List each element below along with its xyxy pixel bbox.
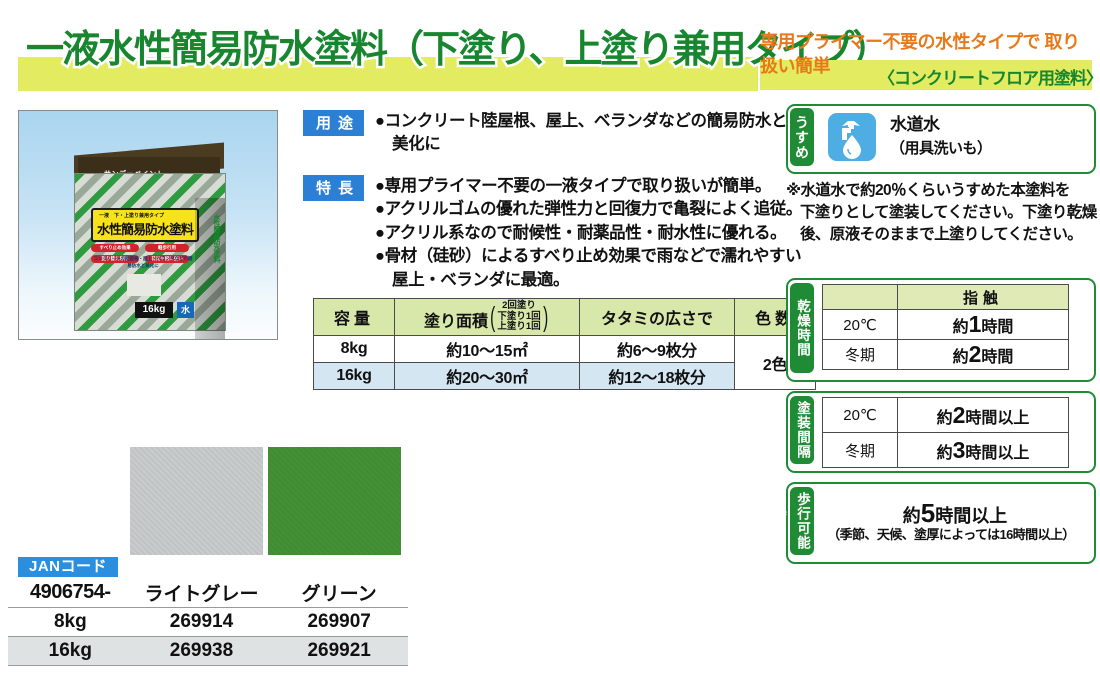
drying-header-touch: 指触 (898, 285, 1069, 310)
recoat-value-1: 約3時間以上 (898, 433, 1069, 468)
recoat-row-20c: 20℃ 約2時間以上 (823, 398, 1069, 433)
spec-volume-1: 16kg (314, 363, 395, 390)
spec-tatami-0: 約6〜9枚分 (580, 336, 735, 363)
spec-th-area: 塗り面積(2回塗り下塗り1回上塗り1回) (395, 299, 580, 336)
thinner-note-2: 下塗りとして塗装してください。下塗り乾燥 (786, 202, 1096, 224)
can-body: 一液 下・上塗り兼用タイプ 水性簡易防水塗料 すべり止め効果 軽歩行用 塗り替え… (74, 173, 226, 331)
usage-badge: 用途 (303, 110, 364, 136)
jan-size-1: 16kg (8, 637, 133, 666)
jan-table: 4906754- ライトグレー グリーン 8kg 269914 269907 1… (8, 578, 408, 666)
recoat-row-winter: 冬期 約3時間以上 (823, 433, 1069, 468)
area-note-1: 2回塗り (502, 300, 536, 311)
drying-value-0: 約1時間 (898, 310, 1069, 340)
jan-size-0: 8kg (8, 608, 133, 637)
jan-code-0-1: 269907 (270, 608, 408, 637)
drying-suffix-0: 時間 (981, 319, 1013, 336)
spec-header-row: 容量 塗り面積(2回塗り下塗り1回上塗り1回) タタミの広さで 色数 (314, 299, 816, 336)
jan-prefix: 4906754- (8, 578, 133, 608)
thinner-name-block: 水道水 （用具洗いも） (890, 113, 992, 159)
can-side-text: 水性簡易防水塗料 (199, 214, 221, 262)
recoat-num-0: 2 (953, 402, 966, 428)
drying-num-0: 1 (969, 311, 982, 337)
catalog-page: 一液水性簡易防水塗料（下塗り、上塗り兼用タイプ） 専用プライマー不要の水性タイプ… (0, 0, 1100, 696)
can-pill-1: すべり止め効果 (91, 244, 139, 252)
features-line-5: 屋上・ベランダに最適。 (375, 269, 802, 292)
walkable-prefix: 約 (903, 506, 921, 526)
recoat-prefix-0: 約 (937, 410, 953, 427)
recoat-suffix-0: 時間以上 (965, 410, 1029, 427)
paint-can-image: サンデーペイント 一液 下・上塗り兼用タイプ 水性簡易防水塗料 すべり止め効果 … (74, 149, 224, 329)
recoat-num-1: 3 (953, 437, 966, 463)
jan-row-8kg: 8kg 269914 269907 (8, 608, 408, 637)
recoat-prefix-1: 約 (937, 445, 953, 462)
jan-badge: JANコード (18, 557, 118, 577)
swatch-light-gray (130, 447, 263, 555)
jan-row-16kg: 16kg 269938 269921 (8, 637, 408, 666)
drying-prefix-0: 約 (953, 319, 969, 336)
drying-value-1: 約2時間 (898, 340, 1069, 370)
spec-row-8kg: 8kg 約10〜15㎡ 約6〜9枚分 2色 (314, 336, 816, 363)
can-white-box (127, 274, 161, 296)
header-subtitle-line1: 専用プライマー不要の水性タイプで (760, 32, 1040, 52)
spec-tatami-1: 約12〜18枚分 (580, 363, 735, 390)
spec-th-area-label: 塗り面積 (424, 313, 488, 330)
jan-col-lightgray: ライトグレー (133, 578, 271, 608)
drying-cond-0: 20℃ (823, 310, 898, 340)
can-front-label: 一液 下・上塗り兼用タイプ 水性簡易防水塗料 (91, 208, 199, 242)
thinner-tab: うすめ液 (790, 108, 814, 166)
walkable-note: （季節、天候、塗厚によっては16時間以上） (806, 524, 1096, 543)
jan-code-1-0: 269938 (133, 637, 271, 666)
drying-cond-1: 冬期 (823, 340, 898, 370)
spec-th-area-note: (2回塗り下塗り1回上塗り1回) (488, 301, 550, 333)
recoat-table: 20℃ 約2時間以上 冬期 約3時間以上 (822, 397, 1069, 468)
can-water-badge: 水 (177, 302, 194, 318)
walkable-tab: 歩行可能時間 (790, 487, 814, 555)
walkable-suffix: 時間以上 (935, 506, 1007, 526)
usage-line-1: ●コンクリート陸屋根、屋上、ベランダなどの簡易防水と (375, 110, 787, 133)
can-label-sub: 一液 下・上塗り兼用タイプ (99, 212, 164, 219)
recoat-suffix-1: 時間以上 (965, 445, 1029, 462)
features-badge: 特長 (303, 175, 364, 201)
drying-time-tab: 乾燥時間 (790, 283, 814, 373)
header-category: 〈コンクリートフロア用塗料〉 (878, 64, 1100, 89)
jan-header-row: 4906754- ライトグレー グリーン (8, 578, 408, 608)
thinner-note: ※水道水で約20％くらいうすめた本塗料を 下塗りとして塗装してください。下塗り乾… (786, 180, 1096, 246)
drying-time-table: 指触 20℃ 約1時間 冬期 約2時間 (822, 284, 1069, 370)
spec-volume-0: 8kg (314, 336, 395, 363)
can-description: コンクリートの陸屋根・屋上・ベランダなどの簡易防水と美化に (93, 256, 193, 270)
spec-area-1: 約20〜30㎡ (395, 363, 580, 390)
features-line-2: ●アクリルゴムの優れた弾性力と回復力で亀裂によく追従。 (375, 198, 802, 221)
features-line-4: ●骨材（硅砂）によるすべり止め効果で雨などで濡れやすい (375, 245, 802, 268)
recoat-value-0: 約2時間以上 (898, 398, 1069, 433)
drying-header-row: 指触 (823, 285, 1069, 310)
thinner-name: 水道水 (890, 113, 992, 138)
thinner-note-3: 後、原液そのままで上塗りしてください。 (786, 224, 1096, 246)
recoat-tab: 塗装間隔 (790, 396, 814, 464)
usage-text: ●コンクリート陸屋根、屋上、ベランダなどの簡易防水と 美化に (375, 110, 787, 157)
can-size-badge: 16kg (135, 302, 173, 318)
spec-th-volume: 容量 (314, 299, 395, 336)
drying-prefix-1: 約 (953, 349, 969, 366)
can-label-main: 水性簡易防水塗料 (97, 219, 193, 238)
area-note-3: 上塗り1回 (497, 321, 540, 332)
drying-header-blank (823, 285, 898, 310)
thinner-note-1: ※水道水で約20％くらいうすめた本塗料を (786, 180, 1096, 202)
jan-code-1-1: 269921 (270, 637, 408, 666)
drying-num-1: 2 (969, 341, 982, 367)
faucet-water-icon (828, 113, 876, 161)
spec-area-0: 約10〜15㎡ (395, 336, 580, 363)
can-pill-2: 軽歩行用 (145, 244, 189, 252)
features-text: ●専用プライマー不要の一液タイプで取り扱いが簡単。 ●アクリルゴムの優れた弾性力… (375, 175, 802, 292)
thinner-name-note: （用具洗いも） (890, 138, 992, 160)
spec-th-tatami: タタミの広さで (580, 299, 735, 336)
recoat-cond-1: 冬期 (823, 433, 898, 468)
drying-row-winter: 冬期 約2時間 (823, 340, 1069, 370)
features-line-1: ●専用プライマー不要の一液タイプで取り扱いが簡単。 (375, 175, 802, 198)
usage-line-2: 美化に (375, 133, 787, 156)
page-title: 一液水性簡易防水塗料（下塗り、上塗り兼用タイプ） (26, 30, 766, 72)
features-line-3: ●アクリル系なので耐候性・耐薬品性・耐水性に優れる。 (375, 222, 802, 245)
recoat-cond-0: 20℃ (823, 398, 898, 433)
drying-suffix-1: 時間 (981, 349, 1013, 366)
jan-col-green: グリーン (270, 578, 408, 608)
jan-code-0-0: 269914 (133, 608, 271, 637)
product-photo: サンデーペイント 一液 下・上塗り兼用タイプ 水性簡易防水塗料 すべり止め効果 … (18, 110, 278, 340)
spec-table: 容量 塗り面積(2回塗り下塗り1回上塗り1回) タタミの広さで 色数 8kg 約… (313, 298, 816, 390)
swatch-green (268, 447, 401, 555)
drying-row-20c: 20℃ 約1時間 (823, 310, 1069, 340)
